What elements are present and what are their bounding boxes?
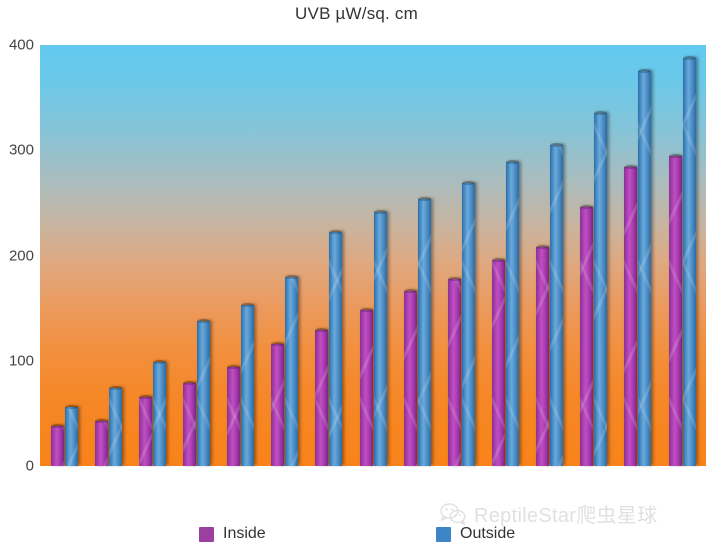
- plot-area: [40, 45, 706, 466]
- bar-outside[interactable]: [153, 362, 166, 466]
- bar-inside[interactable]: [448, 279, 461, 466]
- bar-inside[interactable]: [271, 344, 284, 466]
- bar-inside[interactable]: [183, 383, 196, 466]
- bar-group: [616, 45, 660, 466]
- bar-inside[interactable]: [51, 426, 64, 466]
- y-axis-tick: 400: [9, 37, 34, 54]
- legend-swatch-inside: [199, 527, 214, 542]
- bar-group: [219, 45, 263, 466]
- watermark-text: ReptileStar爬虫星球: [474, 499, 657, 528]
- bar-outside[interactable]: [638, 71, 651, 466]
- bar-outside[interactable]: [462, 183, 475, 466]
- y-axis-tick: 200: [9, 247, 34, 264]
- bar-outside[interactable]: [550, 145, 563, 466]
- bar-group: [395, 45, 439, 466]
- bar-group: [528, 45, 572, 466]
- bar-group: [307, 45, 351, 466]
- bar-outside[interactable]: [329, 232, 342, 466]
- watermark: ReptileStar爬虫星球: [440, 499, 657, 528]
- wechat-icon: [440, 503, 466, 525]
- bar-outside[interactable]: [506, 162, 519, 466]
- bar-group: [263, 45, 307, 466]
- chart-title: UVB µW/sq. cm: [0, 4, 713, 24]
- y-axis-tick: 100: [9, 352, 34, 369]
- bar-outside[interactable]: [418, 199, 431, 466]
- y-axis-tick: 0: [26, 458, 34, 475]
- bars-layer: [40, 45, 706, 466]
- bar-outside[interactable]: [109, 388, 122, 466]
- bar-inside[interactable]: [315, 330, 328, 466]
- bar-inside[interactable]: [360, 310, 373, 466]
- legend-label-inside: Inside: [223, 525, 266, 543]
- y-axis: 0100200300400: [0, 45, 34, 466]
- bar-outside[interactable]: [65, 407, 78, 466]
- bar-group: [130, 45, 174, 466]
- bar-group: [86, 45, 130, 466]
- bar-inside[interactable]: [404, 291, 417, 466]
- bar-inside[interactable]: [227, 367, 240, 466]
- bar-inside[interactable]: [492, 260, 505, 466]
- bar-outside[interactable]: [594, 113, 607, 466]
- bar-group: [174, 45, 218, 466]
- bar-group: [351, 45, 395, 466]
- bar-outside[interactable]: [197, 321, 210, 466]
- bar-inside[interactable]: [624, 167, 637, 466]
- chart-legend: Inside Outside: [0, 525, 713, 551]
- legend-label-outside: Outside: [460, 525, 515, 543]
- legend-swatch-outside: [436, 527, 451, 542]
- bar-outside[interactable]: [285, 277, 298, 466]
- y-axis-tick: 300: [9, 142, 34, 159]
- legend-item-outside[interactable]: Outside: [436, 525, 515, 543]
- bar-group: [660, 45, 704, 466]
- bar-group: [42, 45, 86, 466]
- bar-group: [483, 45, 527, 466]
- bar-inside[interactable]: [95, 421, 108, 466]
- bar-outside[interactable]: [683, 58, 696, 466]
- bar-inside[interactable]: [536, 247, 549, 466]
- bar-inside[interactable]: [580, 207, 593, 466]
- bar-outside[interactable]: [241, 305, 254, 466]
- legend-item-inside[interactable]: Inside: [199, 525, 266, 543]
- bar-group: [439, 45, 483, 466]
- bar-group: [572, 45, 616, 466]
- bar-inside[interactable]: [669, 156, 682, 466]
- bar-inside[interactable]: [139, 397, 152, 466]
- bar-outside[interactable]: [374, 212, 387, 466]
